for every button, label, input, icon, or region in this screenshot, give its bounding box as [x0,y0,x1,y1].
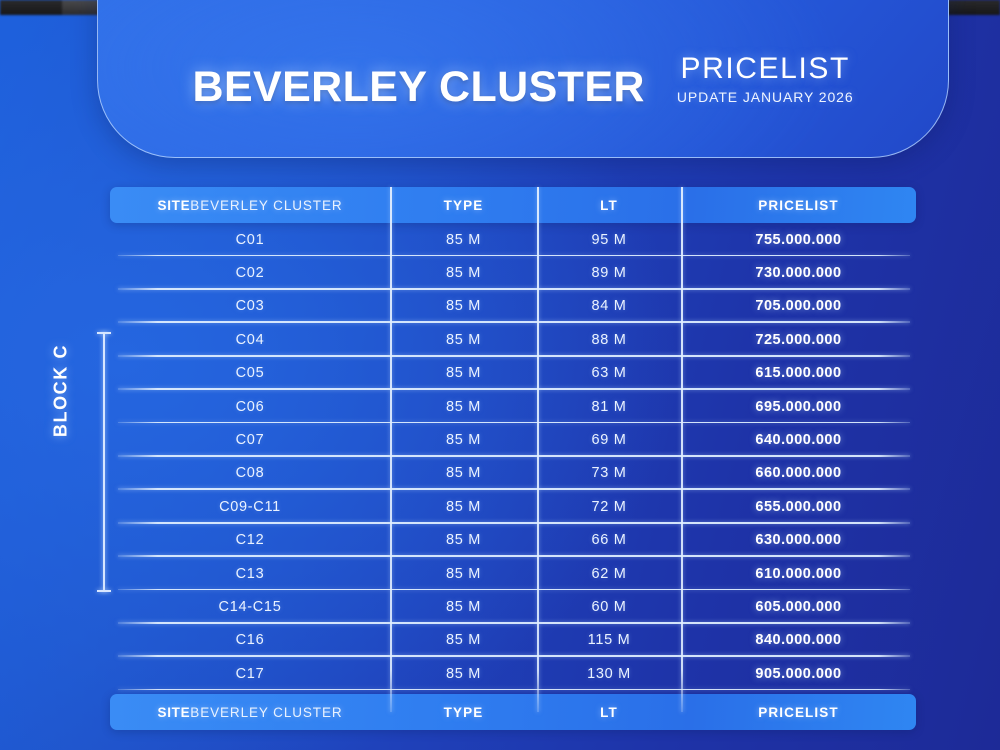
cell-type: 85 M [390,423,537,456]
table-row: C14-C1585 M60 M605.000.000 [110,590,916,623]
cell-lt: 115 M [537,624,681,657]
table-row: C0485 M88 M725.000.000 [110,323,916,356]
cell-price: 660.000.000 [681,457,916,490]
cell-type: 85 M [390,390,537,423]
table-row: C1785 M130 M905.000.000 [110,657,916,690]
column-header-type: TYPE [390,187,537,223]
cell-type: 85 M [390,624,537,657]
cell-site: C07 [110,423,390,456]
cell-type: 85 M [390,256,537,289]
cell-price: 610.000.000 [681,557,916,590]
pricelist-table: SITE BEVERLEY CLUSTER TYPE LT PRICELIST … [110,187,916,730]
pricelist-subtitle: PRICELIST [677,53,854,85]
cell-price: 630.000.000 [681,524,916,557]
cell-type: 85 M [390,290,537,323]
cell-lt: 69 M [537,423,681,456]
cell-price: 605.000.000 [681,590,916,623]
cell-lt: 84 M [537,290,681,323]
update-date-label: UPDATE JANUARY 2026 [677,89,854,105]
header-right-block: PRICELIST UPDATE JANUARY 2026 [677,53,854,110]
table-row: C0185 M95 M755.000.000 [110,223,916,256]
bracket-stem [103,332,105,592]
cell-site: C13 [110,557,390,590]
block-c-bracket [97,332,111,592]
cell-site: C08 [110,457,390,490]
cell-site: C05 [110,357,390,390]
column-header-lt: LT [537,187,681,223]
cell-price: 730.000.000 [681,256,916,289]
bracket-cap-bottom [97,590,111,592]
cell-lt: 72 M [537,490,681,523]
column-footer-site: SITE BEVERLEY CLUSTER [110,694,390,730]
cell-price: 615.000.000 [681,357,916,390]
table-row: C0585 M63 M615.000.000 [110,357,916,390]
cell-lt: 89 M [537,256,681,289]
cell-price: 640.000.000 [681,423,916,456]
cell-site: C06 [110,390,390,423]
table-header-row-top: SITE BEVERLEY CLUSTER TYPE LT PRICELIST [110,187,916,223]
cell-price: 840.000.000 [681,624,916,657]
column-footer-pricelist: PRICELIST [681,694,916,730]
column-header-site: SITE BEVERLEY CLUSTER [110,187,390,223]
cell-site: C03 [110,290,390,323]
table-row: C0685 M81 M695.000.000 [110,390,916,423]
cell-price: 755.000.000 [681,223,916,256]
cell-lt: 81 M [537,390,681,423]
column-header-site-bold: SITE [157,198,190,213]
cell-lt: 73 M [537,457,681,490]
cell-type: 85 M [390,557,537,590]
page-title: BEVERLEY CLUSTER [192,66,644,109]
column-header-pricelist: PRICELIST [681,187,916,223]
cell-lt: 60 M [537,590,681,623]
cell-site: C02 [110,256,390,289]
cell-lt: 88 M [537,323,681,356]
cell-site: C01 [110,223,390,256]
cell-site: C12 [110,524,390,557]
cell-type: 85 M [390,524,537,557]
header-inner: BEVERLEY CLUSTER PRICELIST UPDATE JANUAR… [98,53,948,110]
cell-site: C16 [110,624,390,657]
cell-lt: 63 M [537,357,681,390]
table-row: C09-C1185 M72 M655.000.000 [110,490,916,523]
column-footer-site-regular: BEVERLEY CLUSTER [190,705,342,720]
cell-lt: 66 M [537,524,681,557]
cell-price: 655.000.000 [681,490,916,523]
cell-type: 85 M [390,657,537,690]
cell-price: 905.000.000 [681,657,916,690]
column-footer-lt: LT [537,694,681,730]
column-header-site-regular: BEVERLEY CLUSTER [190,198,342,213]
pricelist-page: BEVERLEY CLUSTER PRICELIST UPDATE JANUAR… [0,0,1000,750]
table-body: C0185 M95 M755.000.000C0285 M89 M730.000… [110,223,916,690]
column-footer-site-bold: SITE [157,705,190,720]
header-card: BEVERLEY CLUSTER PRICELIST UPDATE JANUAR… [97,0,949,158]
block-c-label: BLOCK C [51,311,72,471]
table-row: C1285 M66 M630.000.000 [110,524,916,557]
cell-type: 85 M [390,490,537,523]
cell-site: C17 [110,657,390,690]
cell-type: 85 M [390,457,537,490]
table-row: C0285 M89 M730.000.000 [110,256,916,289]
cell-site: C09-C11 [110,490,390,523]
cell-lt: 95 M [537,223,681,256]
cell-price: 695.000.000 [681,390,916,423]
cell-type: 85 M [390,223,537,256]
cell-type: 85 M [390,357,537,390]
cell-type: 85 M [390,590,537,623]
cell-price: 725.000.000 [681,323,916,356]
cell-site: C14-C15 [110,590,390,623]
column-footer-type: TYPE [390,694,537,730]
cell-site: C04 [110,323,390,356]
table-header-row-bottom: SITE BEVERLEY CLUSTER TYPE LT PRICELIST [110,694,916,730]
table-row: C0385 M84 M705.000.000 [110,290,916,323]
cell-type: 85 M [390,323,537,356]
cell-price: 705.000.000 [681,290,916,323]
table-row: C0785 M69 M640.000.000 [110,423,916,456]
cell-lt: 62 M [537,557,681,590]
cell-lt: 130 M [537,657,681,690]
table-row: C1385 M62 M610.000.000 [110,557,916,590]
table-row: C1685 M115 M840.000.000 [110,624,916,657]
table-row: C0885 M73 M660.000.000 [110,457,916,490]
